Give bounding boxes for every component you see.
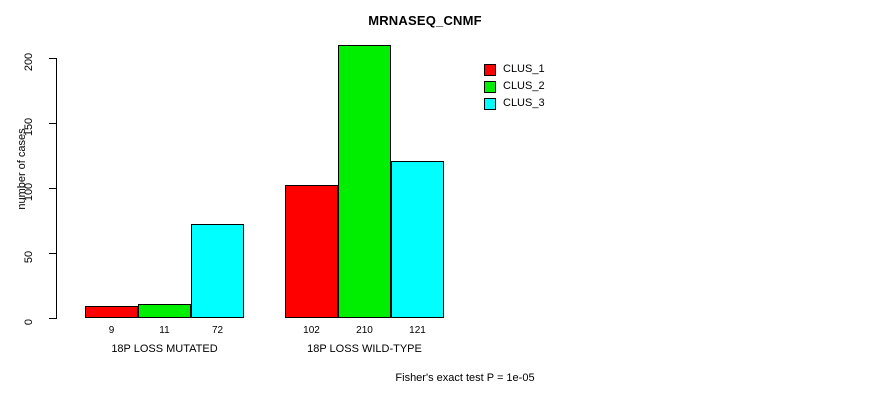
bar-clus-3-group-2[interactable] bbox=[391, 161, 444, 318]
group-label: 18P LOSS WILD-TYPE bbox=[245, 344, 484, 355]
y-axis-title: number of cases bbox=[16, 109, 28, 229]
y-axis-tick bbox=[49, 123, 56, 124]
legend-label-clus-2: CLUS_2 bbox=[503, 80, 545, 93]
bar-value-label: 9 bbox=[85, 326, 138, 336]
bar-value-label: 72 bbox=[191, 326, 244, 336]
y-axis-tick-label-text: 0 bbox=[23, 319, 35, 325]
y-axis-tick-label: 200 bbox=[14, 52, 44, 64]
bar-value-label: 210 bbox=[338, 326, 391, 336]
y-axis-tick bbox=[49, 318, 56, 319]
fisher-test-annotation: Fisher's exact test P = 1e-05 bbox=[300, 372, 630, 384]
y-axis-tick-label: 0 bbox=[14, 312, 44, 324]
legend-swatch-clus-1 bbox=[484, 64, 496, 76]
legend-swatch-clus-3 bbox=[484, 98, 496, 110]
legend-swatch-clus-2 bbox=[484, 81, 496, 93]
bar-value-label: 121 bbox=[391, 326, 444, 336]
chart-title: MRNASEQ_CNMF bbox=[0, 13, 870, 28]
y-axis-tick-label-text: 50 bbox=[23, 251, 35, 263]
bar-value-label: 11 bbox=[138, 326, 191, 336]
y-axis-tick-label-text: 200 bbox=[23, 53, 35, 71]
legend-label-clus-3: CLUS_3 bbox=[503, 97, 545, 110]
bar-clus-2-group-2[interactable] bbox=[338, 45, 391, 318]
bar-value-label: 102 bbox=[285, 326, 338, 336]
y-axis-tick-label: 50 bbox=[14, 247, 44, 259]
y-axis-tick bbox=[49, 58, 56, 59]
bar-clus-2-group-1[interactable] bbox=[138, 304, 191, 318]
legend-label-clus-1: CLUS_1 bbox=[503, 63, 545, 76]
y-axis-tick bbox=[49, 253, 56, 254]
bar-clus-1-group-1[interactable] bbox=[85, 306, 138, 318]
bar-clus-3-group-1[interactable] bbox=[191, 224, 244, 318]
bar-clus-1-group-2[interactable] bbox=[285, 185, 338, 318]
y-axis-line bbox=[56, 58, 57, 319]
y-axis-tick bbox=[49, 188, 56, 189]
barplot-figure: MRNASEQ_CNMF 050100150200 number of case… bbox=[0, 0, 890, 400]
